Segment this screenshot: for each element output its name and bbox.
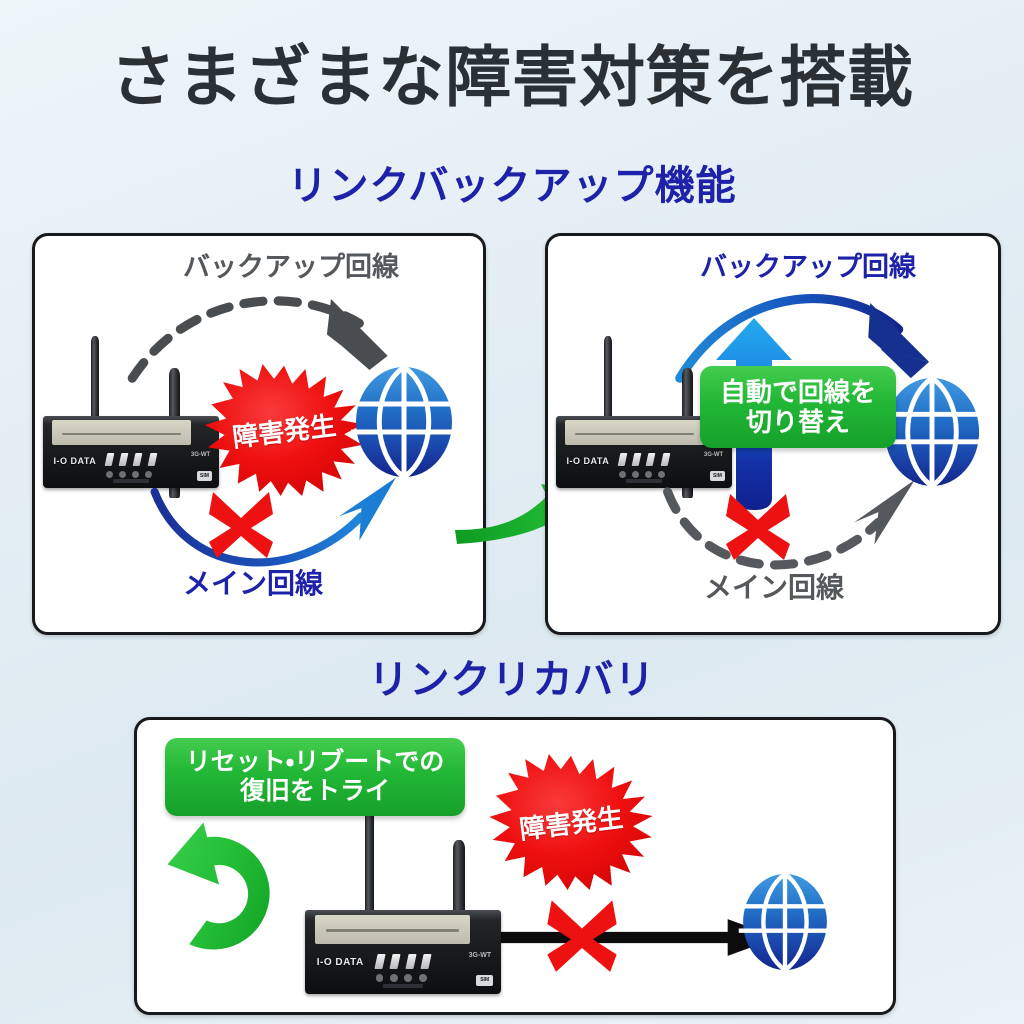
failure-x-mark <box>722 490 794 562</box>
panel-link-backup-after: バックアップ回線 I-O DATA <box>545 233 1001 635</box>
failure-starburst: 障害発生 <box>201 364 367 496</box>
callout-line-1: 自動で回線を <box>720 377 876 407</box>
main-line-label: メイン回線 <box>183 570 323 598</box>
recovery-callout: リセット・リブートでの 復旧をトライ <box>165 738 465 816</box>
x-mark-shape <box>722 490 794 562</box>
failure-starburst: 障害発生 <box>485 754 657 890</box>
callout-line-1: リセット・リブートでの <box>186 748 445 777</box>
callout-line-2: 切り替え <box>746 407 850 437</box>
router-slot <box>113 479 148 483</box>
router-sim-logo: SIM <box>476 975 493 986</box>
globe-shape <box>737 868 833 976</box>
page-title: さまざまな障害対策を搭載 <box>0 44 1024 110</box>
backup-line-label: バックアップ回線 <box>183 254 399 281</box>
main-line-label-failed: メイン回線 <box>704 574 844 602</box>
panel-left-content: バックアップ回線 I-O DATA <box>35 236 483 632</box>
router-led-indicators <box>376 954 431 969</box>
section-title-link-backup: リンクバックアップ機能 <box>0 166 1024 206</box>
router-top-label <box>315 915 470 944</box>
starburst-shape <box>201 364 367 496</box>
router-led-dots <box>376 974 427 982</box>
panel-bottom-content: リセット・リブートでの 復旧をトライ I-O DATA <box>137 720 893 1012</box>
section-title-link-recovery: リンクリカバリ <box>0 660 1024 700</box>
callout-line-2: 復旧をトライ <box>240 777 390 806</box>
backup-line-label-active: バックアップ回線 <box>700 254 916 281</box>
panel-right-content: バックアップ回線 I-O DATA <box>548 236 998 632</box>
panel-link-backup-before: バックアップ回線 I-O DATA <box>32 233 486 635</box>
router-led-indicators <box>106 453 155 466</box>
router-brand-label: I-O DATA <box>567 456 610 466</box>
globe-icon <box>737 868 833 976</box>
router-led-dots <box>619 471 665 478</box>
router-port-label: 3G-WT <box>469 952 492 959</box>
starburst-shape <box>485 754 657 890</box>
failure-x-mark <box>543 896 621 974</box>
router-led-dots <box>106 471 152 478</box>
router-top-label <box>565 420 704 444</box>
infographic-stage: さまざまな障害対策を搭載 リンクバックアップ機能 バックアップ回線 <box>0 0 1024 1024</box>
router-slot <box>383 984 422 988</box>
router-body: I-O DATA 3G-WT SIM <box>43 416 219 488</box>
panel-link-recovery: リセット・リブートでの 復旧をトライ I-O DATA <box>134 717 896 1015</box>
router-brand-label: I-O DATA <box>317 957 364 968</box>
router-brand-label: I-O DATA <box>54 456 97 466</box>
globe-icon <box>349 362 459 482</box>
x-mark-shape <box>205 488 277 560</box>
circular-refresh-arrow-icon <box>155 818 295 958</box>
router-led-indicators <box>619 453 668 466</box>
failure-x-mark <box>205 488 277 560</box>
globe-shape <box>349 362 459 482</box>
auto-switch-callout: 自動で回線を 切り替え <box>700 366 896 448</box>
router-body: I-O DATA 3G-WT SIM <box>305 910 501 994</box>
x-mark-shape <box>543 896 621 974</box>
router-top-label <box>52 420 191 444</box>
router-slot <box>626 479 661 483</box>
